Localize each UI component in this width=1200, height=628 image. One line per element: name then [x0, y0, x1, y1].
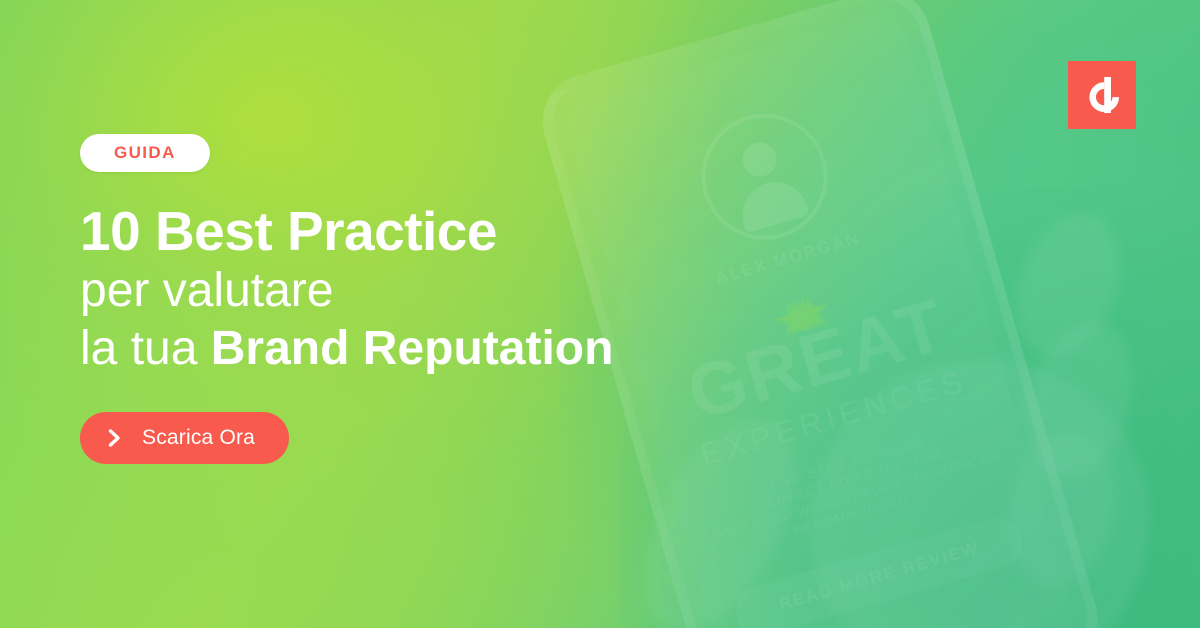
headline-line-3-light: la tua [80, 322, 211, 375]
promo-banner: ALEX MORGAN GREAT EXPERIENCES FIVE STAR … [0, 0, 1200, 628]
banner-content: GUIDA 10 Best Practice per valutare la t… [80, 0, 780, 628]
brand-logo-icon[interactable] [1068, 61, 1136, 129]
headline: 10 Best Practice per valutare la tua Bra… [80, 200, 613, 378]
headline-line-2: per valutare [80, 262, 613, 320]
download-now-label: Scarica Ora [142, 426, 255, 450]
headline-line-1: 10 Best Practice [80, 200, 613, 262]
guide-badge-label: GUIDA [114, 143, 176, 163]
headline-line-3-strong: Brand Reputation [211, 322, 614, 375]
chevron-right-icon [106, 429, 124, 447]
headline-line-3: la tua Brand Reputation [80, 320, 613, 378]
download-now-button[interactable]: Scarica Ora [80, 412, 289, 464]
guide-badge: GUIDA [80, 134, 210, 172]
